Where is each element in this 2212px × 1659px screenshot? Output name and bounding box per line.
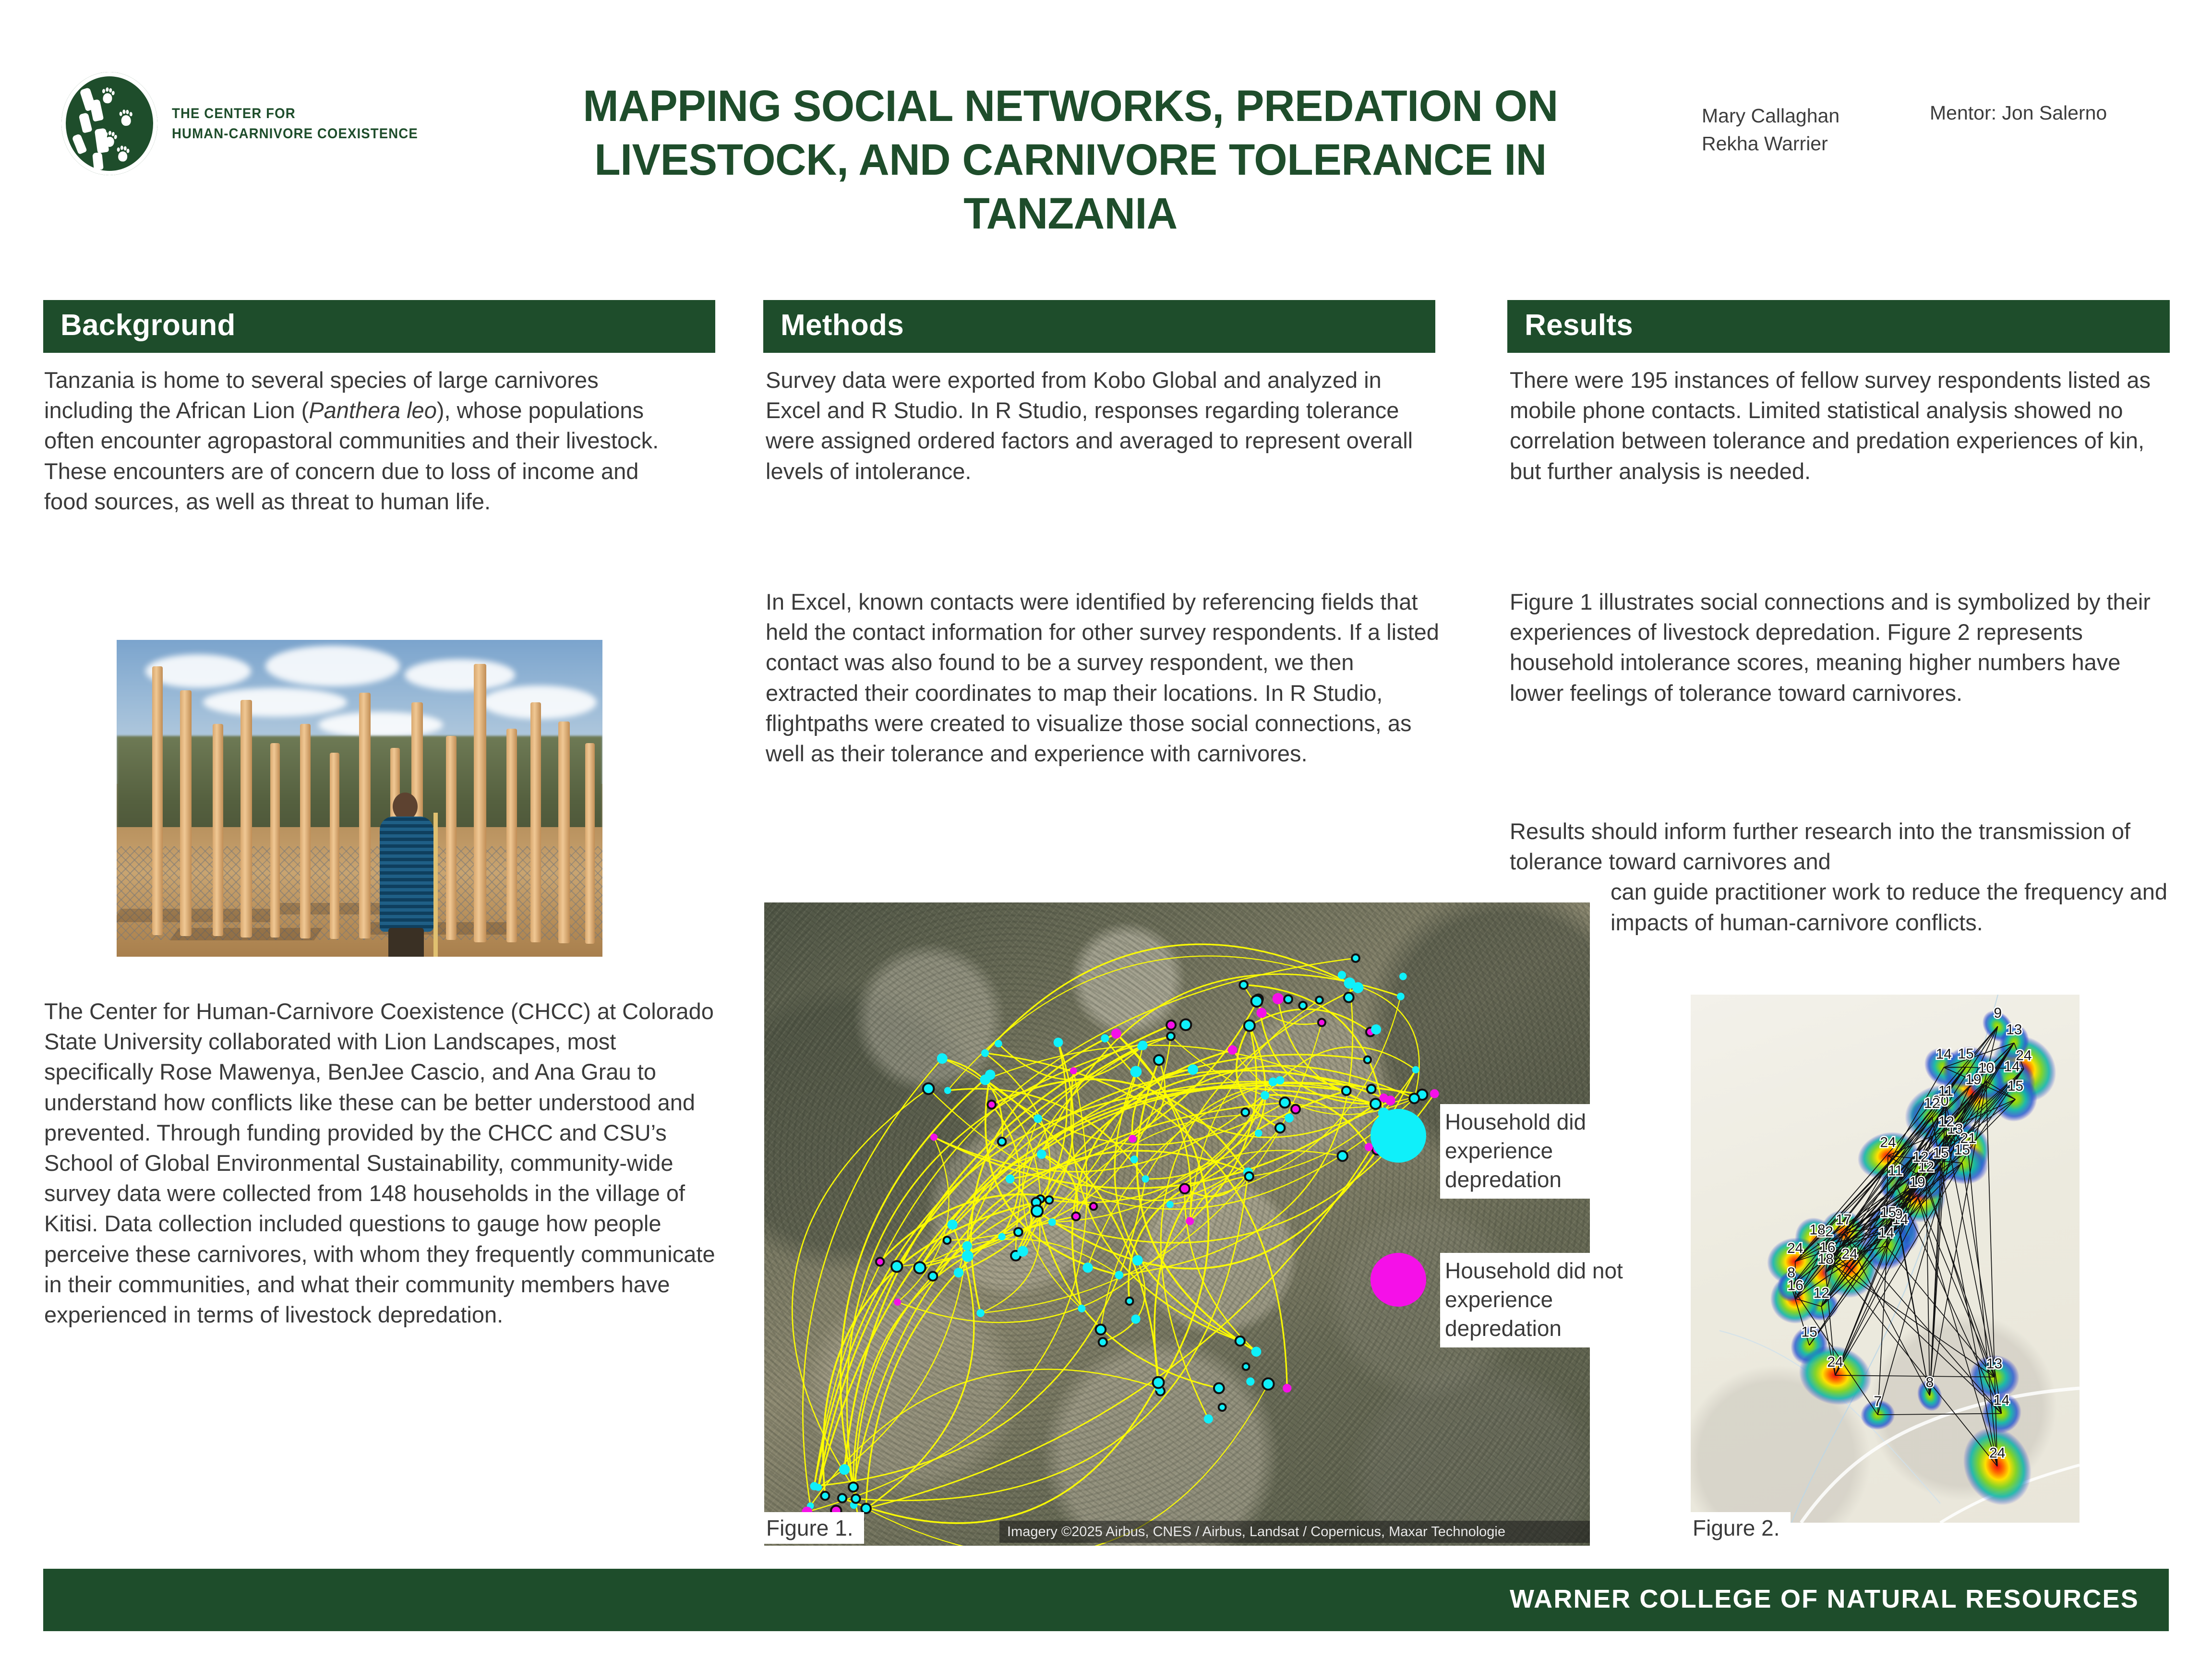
heatmap-overlay: 9241328141519101415201113211215112412191… xyxy=(1691,995,2080,1523)
results-paragraph-1: There were 195 instances of fellow surve… xyxy=(1510,365,2172,486)
svg-text:14: 14 xyxy=(1994,1393,2009,1408)
species-latin-name: Panthera leo xyxy=(309,397,437,423)
methods-p1-text: Survey data were exported from Kobo Glob… xyxy=(766,365,1438,486)
poster-header: THE CENTER FOR HUMAN-CARNIVORE COEXISTEN… xyxy=(0,0,2212,269)
results-p3-part-a: Results should inform further research i… xyxy=(1510,818,2130,874)
section-header-methods: Methods xyxy=(763,300,1435,353)
chcc-logo-line-1: THE CENTER FOR xyxy=(172,104,418,123)
photo-person-shawl xyxy=(380,817,433,932)
svg-text:19: 19 xyxy=(1909,1174,1925,1190)
photo-walking-stick xyxy=(433,813,438,957)
legend-label-depredation-no: Household did not experience depredation xyxy=(1440,1253,1653,1347)
mentor-name: Mentor: Jon Salerno xyxy=(1930,102,2107,124)
svg-text:15: 15 xyxy=(1954,1142,1970,1158)
svg-text:24: 24 xyxy=(1842,1246,1858,1262)
section-title-methods: Methods xyxy=(781,308,904,342)
section-header-results: Results xyxy=(1507,300,2170,353)
boma-photograph xyxy=(117,640,602,957)
svg-text:13: 13 xyxy=(1986,1356,2002,1372)
background-paragraph-2: The Center for Human-Carnivore Coexisten… xyxy=(44,996,716,1330)
svg-text:15: 15 xyxy=(1933,1145,1948,1161)
results-p2-text: Figure 1 illustrates social connections … xyxy=(1510,587,2177,708)
results-p3-part-b: can guide practitioner work to reduce th… xyxy=(1510,877,2177,937)
svg-text:7: 7 xyxy=(1874,1394,1882,1409)
chcc-logo-text: THE CENTER FOR HUMAN-CARNIVORE COEXISTEN… xyxy=(172,104,439,144)
svg-text:14: 14 xyxy=(1936,1046,1952,1062)
svg-text:13: 13 xyxy=(2006,1022,2022,1038)
background-paragraph-1: Tanzania is home to several species of l… xyxy=(44,365,683,517)
svg-text:15: 15 xyxy=(1880,1205,1896,1221)
author-name-1: Mary Callaghan xyxy=(1702,102,1839,130)
footer-banner: WARNER COLLEGE OF NATURAL RESOURCES xyxy=(43,1569,2169,1631)
figure-2-caption: Figure 2. xyxy=(1691,1512,1791,1544)
section-title-background: Background xyxy=(60,308,236,342)
svg-text:15: 15 xyxy=(1801,1324,1817,1340)
svg-text:15: 15 xyxy=(1958,1046,1974,1062)
svg-text:24: 24 xyxy=(1880,1134,1896,1150)
legend-marker-depredation-yes xyxy=(1370,1109,1426,1163)
svg-text:24: 24 xyxy=(1989,1445,2005,1461)
chcc-logo: THE CENTER FOR HUMAN-CARNIVORE COEXISTEN… xyxy=(61,72,439,175)
svg-text:12: 12 xyxy=(1912,1149,1928,1165)
methods-p2-text: In Excel, known contacts were identified… xyxy=(766,587,1452,769)
page-title: MAPPING SOCIAL NETWORKS, PREDATION ON LI… xyxy=(507,79,1634,241)
svg-text:17: 17 xyxy=(1836,1212,1851,1227)
author-name-2: Rekha Warrier xyxy=(1702,130,1839,157)
methods-paragraph-1: Survey data were exported from Kobo Glob… xyxy=(766,365,1438,486)
photo-person-legs xyxy=(388,928,424,957)
svg-text:24: 24 xyxy=(1787,1240,1803,1256)
footer-text: WARNER COLLEGE OF NATURAL RESOURCES xyxy=(1510,1584,2139,1614)
chcc-logo-line-2: HUMAN-CARNIVORE COEXISTENCE xyxy=(172,124,418,144)
svg-text:11: 11 xyxy=(1938,1083,1953,1099)
figure-1-caption: Figure 1. xyxy=(764,1512,864,1544)
svg-text:9: 9 xyxy=(1994,1005,2002,1021)
results-paragraph-3: Results should inform further research i… xyxy=(1510,816,2177,938)
legend-marker-depredation-no xyxy=(1370,1253,1426,1307)
svg-text:24: 24 xyxy=(1827,1354,1843,1370)
background-p2-text: The Center for Human-Carnivore Coexisten… xyxy=(44,996,716,1330)
svg-text:18: 18 xyxy=(1818,1251,1834,1267)
figure-1-social-network-map: Imagery ©2025 Airbus, CNES / Airbus, Lan… xyxy=(764,902,1590,1546)
svg-text:14: 14 xyxy=(1878,1225,1894,1241)
svg-text:18: 18 xyxy=(1809,1222,1825,1238)
author-list: Mary Callaghan Rekha Warrier xyxy=(1702,102,1839,157)
svg-text:11: 11 xyxy=(1888,1163,1903,1179)
results-p1-text: There were 195 instances of fellow surve… xyxy=(1510,365,2172,486)
methods-paragraph-2: In Excel, known contacts were identified… xyxy=(766,587,1452,769)
section-header-background: Background xyxy=(43,300,715,353)
section-title-results: Results xyxy=(1525,308,1633,342)
flightpath-overlay xyxy=(764,902,1590,1546)
paw-print-circle-icon xyxy=(61,72,157,175)
svg-text:12: 12 xyxy=(1938,1114,1954,1130)
svg-text:12: 12 xyxy=(1924,1095,1940,1111)
results-paragraph-2: Figure 1 illustrates social connections … xyxy=(1510,587,2177,708)
legend-label-depredation-yes: Household did experience depredation xyxy=(1440,1104,1639,1199)
svg-text:10: 10 xyxy=(1978,1060,1994,1076)
svg-text:12: 12 xyxy=(1814,1285,1829,1301)
svg-text:15: 15 xyxy=(2008,1078,2023,1094)
svg-text:8: 8 xyxy=(1926,1374,1934,1390)
figure-2-intolerance-heatmap: 9241328141519101415201113211215112412191… xyxy=(1691,995,2080,1523)
svg-text:8: 8 xyxy=(1787,1265,1795,1281)
imagery-attribution: Imagery ©2025 Airbus, CNES / Airbus, Lan… xyxy=(999,1521,1590,1543)
svg-text:14: 14 xyxy=(2004,1058,2020,1074)
